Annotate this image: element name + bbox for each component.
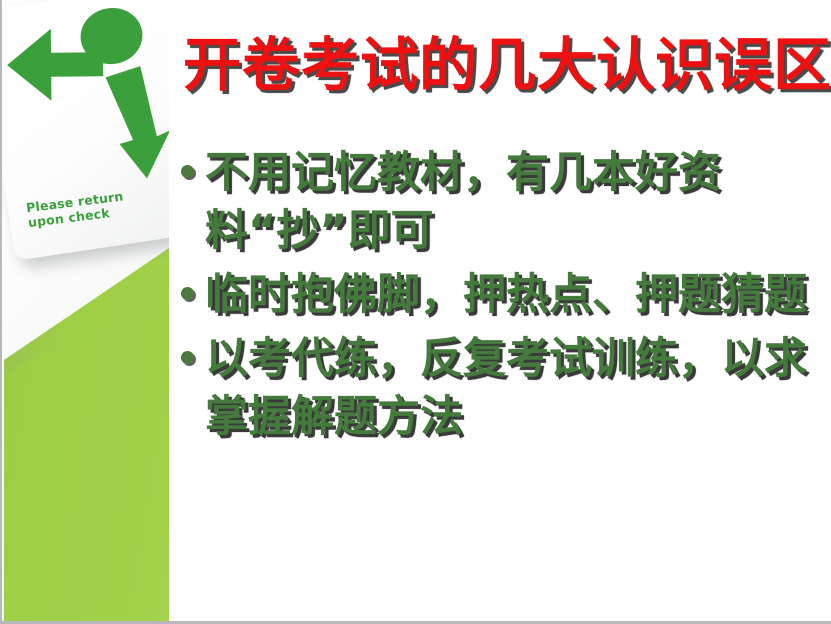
bullet-text: 以考代练，反复考试训练，以求掌握解题方法 xyxy=(205,330,825,446)
presentation-slide: Please return upon check 开卷考试的几大认识误区 不用记… xyxy=(0,0,831,624)
slide-content: 开卷考试的几大认识误区 不用记忆教材，有几本好资料“抄”即可 临时抱佛脚，押热点… xyxy=(169,0,831,621)
bullet-item: 临时抱佛脚，押热点、押题猜题 xyxy=(177,266,825,324)
bullet-text: 临时抱佛脚，押热点、押题猜题 xyxy=(205,266,825,324)
bullet-item: 以考代练，反复考试训练，以求掌握解题方法 xyxy=(177,330,825,446)
bullet-dot-icon xyxy=(181,351,194,364)
return-card-photo: Please return upon check xyxy=(2,0,169,261)
card-inner: Please return upon check xyxy=(2,0,169,261)
slide-title: 开卷考试的几大认识误区 xyxy=(183,33,813,97)
left-decoration-column: Please return upon check xyxy=(2,0,169,624)
bullet-text: 不用记忆教材，有几本好资料“抄”即可 xyxy=(205,144,825,260)
bullet-list: 不用记忆教材，有几本好资料“抄”即可 临时抱佛脚，押热点、押题猜题 以考代练，反… xyxy=(177,144,825,452)
bullet-item: 不用记忆教材，有几本好资料“抄”即可 xyxy=(177,144,825,260)
bullet-dot-icon xyxy=(181,165,194,178)
photo-card-clip: Please return upon check xyxy=(2,0,169,300)
bullet-dot-icon xyxy=(181,287,194,300)
